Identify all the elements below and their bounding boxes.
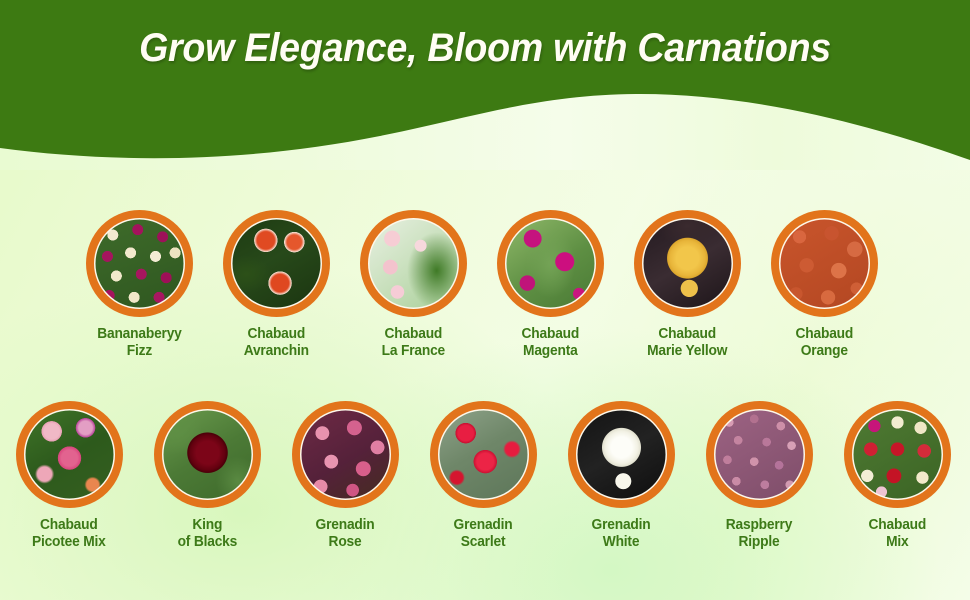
variety-medallion[interactable] bbox=[568, 401, 675, 508]
variety-medallion[interactable] bbox=[706, 401, 813, 508]
chabaud-orange-flower-photo bbox=[780, 219, 869, 308]
variety-label: Chabaud Mix bbox=[868, 517, 926, 551]
chabaud-magenta-flower-photo bbox=[506, 219, 595, 308]
variety-label-line2: Picotee Mix bbox=[32, 534, 106, 551]
king-of-blacks-flower-photo bbox=[163, 410, 252, 499]
chabaud-marie-yellow-flower-photo bbox=[643, 219, 732, 308]
variety-medallion[interactable] bbox=[86, 210, 193, 317]
variety-label-line2: of Blacks bbox=[177, 534, 237, 551]
variety-label: Chabaud Marie Yellow bbox=[647, 326, 727, 360]
bananaberyy-fizz-flower-photo bbox=[95, 219, 184, 308]
variety-medallion[interactable] bbox=[292, 401, 399, 508]
variety-label: Chabaud La France bbox=[382, 326, 445, 360]
variety-label: King of Blacks bbox=[177, 517, 237, 551]
variety-medallion[interactable] bbox=[16, 401, 123, 508]
variety-label-line1: Chabaud bbox=[796, 326, 854, 343]
grenadin-rose-flower-photo bbox=[301, 410, 390, 499]
variety-card-king-of-blacks[interactable]: King of Blacks bbox=[138, 401, 276, 551]
variety-label: Grenadin Rose bbox=[316, 517, 375, 551]
variety-card-chabaud-orange[interactable]: Chabaud Orange bbox=[756, 210, 893, 360]
variety-label: Chabaud Magenta bbox=[522, 326, 580, 360]
variety-card-chabaud-magenta[interactable]: Chabaud Magenta bbox=[482, 210, 619, 360]
variety-label: Bananaberyy Fizz bbox=[97, 326, 181, 360]
variety-card-bananaberyy-fizz[interactable]: Bananaberyy Fizz bbox=[71, 210, 208, 360]
variety-label: Grenadin Scarlet bbox=[454, 517, 513, 551]
variety-label-line1: Raspberry bbox=[726, 517, 792, 534]
variety-label-line1: Grenadin bbox=[454, 517, 513, 534]
variety-label-line1: Bananaberyy bbox=[97, 326, 181, 343]
variety-label-line1: Chabaud bbox=[868, 517, 926, 534]
variety-medallion[interactable] bbox=[430, 401, 537, 508]
chabaud-avranchin-flower-photo bbox=[232, 219, 321, 308]
variety-medallion[interactable] bbox=[223, 210, 330, 317]
variety-label-line1: Grenadin bbox=[316, 517, 375, 534]
variety-label: Chabaud Orange bbox=[796, 326, 854, 360]
variety-card-chabaud-picotee-mix[interactable]: Chabaud Picotee Mix bbox=[0, 401, 138, 551]
chabaud-picotee-mix-flower-photo bbox=[25, 410, 114, 499]
variety-label-line1: Grenadin bbox=[592, 517, 651, 534]
grenadin-white-flower-photo bbox=[577, 410, 666, 499]
raspberry-ripple-flower-photo bbox=[715, 410, 804, 499]
variety-row-1: Bananaberyy Fizz Chabaud Avranchin Chaba… bbox=[0, 210, 970, 360]
variety-label: Chabaud Picotee Mix bbox=[32, 517, 106, 551]
variety-label-line2: Mix bbox=[868, 534, 926, 551]
variety-card-chabaud-mix[interactable]: Chabaud Mix bbox=[828, 401, 966, 551]
variety-label-line1: Chabaud bbox=[522, 326, 580, 343]
variety-label-line1: Chabaud bbox=[647, 326, 727, 343]
variety-card-chabaud-avranchin[interactable]: Chabaud Avranchin bbox=[208, 210, 345, 360]
variety-label-line1: Chabaud bbox=[382, 326, 445, 343]
variety-label: Grenadin White bbox=[592, 517, 651, 551]
variety-medallion[interactable] bbox=[154, 401, 261, 508]
variety-label-line2: Ripple bbox=[726, 534, 792, 551]
variety-label-line2: Fizz bbox=[97, 343, 181, 360]
chabaud-mix-flower-photo bbox=[853, 410, 942, 499]
variety-label-line1: Chabaud bbox=[32, 517, 106, 534]
variety-card-chabaud-marie-yellow[interactable]: Chabaud Marie Yellow bbox=[619, 210, 756, 360]
variety-label-line2: La France bbox=[382, 343, 445, 360]
variety-label-line2: Magenta bbox=[522, 343, 580, 360]
variety-medallion[interactable] bbox=[360, 210, 467, 317]
variety-card-grenadin-white[interactable]: Grenadin White bbox=[552, 401, 690, 551]
variety-label-line2: White bbox=[592, 534, 651, 551]
variety-label-line2: Avranchin bbox=[244, 343, 309, 360]
page-title: Grow Elegance, Bloom with Carnations bbox=[29, 26, 941, 71]
variety-medallion[interactable] bbox=[634, 210, 741, 317]
variety-label-line1: Chabaud bbox=[244, 326, 309, 343]
variety-card-grenadin-rose[interactable]: Grenadin Rose bbox=[276, 401, 414, 551]
variety-label: Chabaud Avranchin bbox=[244, 326, 309, 360]
variety-label: Raspberry Ripple bbox=[726, 517, 792, 551]
variety-medallion[interactable] bbox=[497, 210, 604, 317]
header-wave-divider bbox=[0, 80, 970, 170]
variety-label-line1: King bbox=[177, 517, 237, 534]
chabaud-la-france-flower-photo bbox=[369, 219, 458, 308]
variety-label-line2: Marie Yellow bbox=[647, 343, 727, 360]
variety-label-line2: Rose bbox=[316, 534, 375, 551]
variety-medallion[interactable] bbox=[844, 401, 951, 508]
variety-medallion[interactable] bbox=[771, 210, 878, 317]
variety-label-line2: Scarlet bbox=[454, 534, 513, 551]
variety-card-chabaud-la-france[interactable]: Chabaud La France bbox=[345, 210, 482, 360]
grenadin-scarlet-flower-photo bbox=[439, 410, 528, 499]
variety-card-grenadin-scarlet[interactable]: Grenadin Scarlet bbox=[414, 401, 552, 551]
variety-card-raspberry-ripple[interactable]: Raspberry Ripple bbox=[690, 401, 828, 551]
variety-row-2: Chabaud Picotee Mix King of Blacks Grena… bbox=[0, 401, 970, 551]
page-header: Grow Elegance, Bloom with Carnations bbox=[0, 0, 970, 170]
variety-label-line2: Orange bbox=[796, 343, 854, 360]
